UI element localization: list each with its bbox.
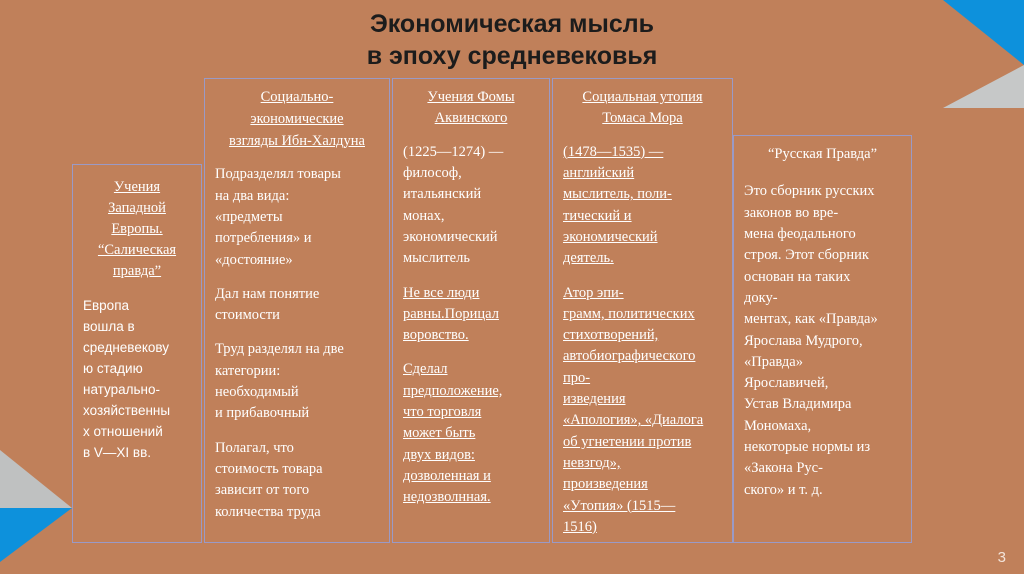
content-box-thomas-aquinas: Учения Фомы Аквинского (1225—1274) — фил… [392, 78, 550, 543]
slide-canvas: Экономическая мысль в эпоху средневековь… [0, 0, 1024, 574]
content-box-paragraph: Подразделял товары на два вида: «предмет… [215, 164, 379, 271]
content-box-heading: Учения Фомы Аквинского [403, 87, 539, 130]
content-box-heading: Социально- экономические взгляды Ибн-Хал… [215, 87, 379, 152]
content-box-heading: Социальная утопия Томаса Мора [563, 87, 722, 130]
content-box-heading: Учения Западной Европы. “Салическая прав… [83, 177, 191, 282]
decorative-triangle-bottom-left-blue [0, 508, 72, 562]
content-box-russkaya-pravda: “Русская Правда” Это сборник русских зак… [733, 135, 912, 543]
page-number: 3 [998, 549, 1006, 566]
content-box-ibn-khaldun: Социально- экономические взгляды Ибн-Хал… [204, 78, 390, 543]
content-box-paragraph: Полагал, что стоимость товара зависит от… [215, 438, 379, 523]
content-box-heading: “Русская Правда” [744, 144, 901, 165]
content-box-paragraph: Не все люди равны.Порицал воровство. [403, 283, 539, 347]
content-box-thomas-more: Социальная утопия Томаса Мора (1478—1535… [552, 78, 733, 543]
content-box-paragraph: Атор эпи- грамм, политических стихотворе… [563, 283, 722, 539]
content-box-paragraph: Труд разделял на две категории: необходи… [215, 339, 379, 424]
content-box-paragraph: Это сборник русских законов во вре- мена… [744, 181, 901, 501]
content-box-paragraph: Дал нам понятие стоимости [215, 284, 379, 327]
content-box-paragraph: Европа вошла в средневекову ю стадию нат… [83, 296, 191, 463]
decorative-triangle-bottom-left-gray [0, 450, 72, 508]
content-box-western-europe: Учения Западной Европы. “Салическая прав… [72, 164, 202, 543]
content-box-paragraph: (1478—1535) — английский мыслитель, поли… [563, 142, 722, 270]
content-box-paragraph: Сделал предположение, что торговля может… [403, 359, 539, 508]
content-box-paragraph: (1225—1274) — философ, итальянский монах… [403, 142, 539, 270]
slide-title: Экономическая мысль в эпоху средневековь… [0, 8, 1024, 72]
